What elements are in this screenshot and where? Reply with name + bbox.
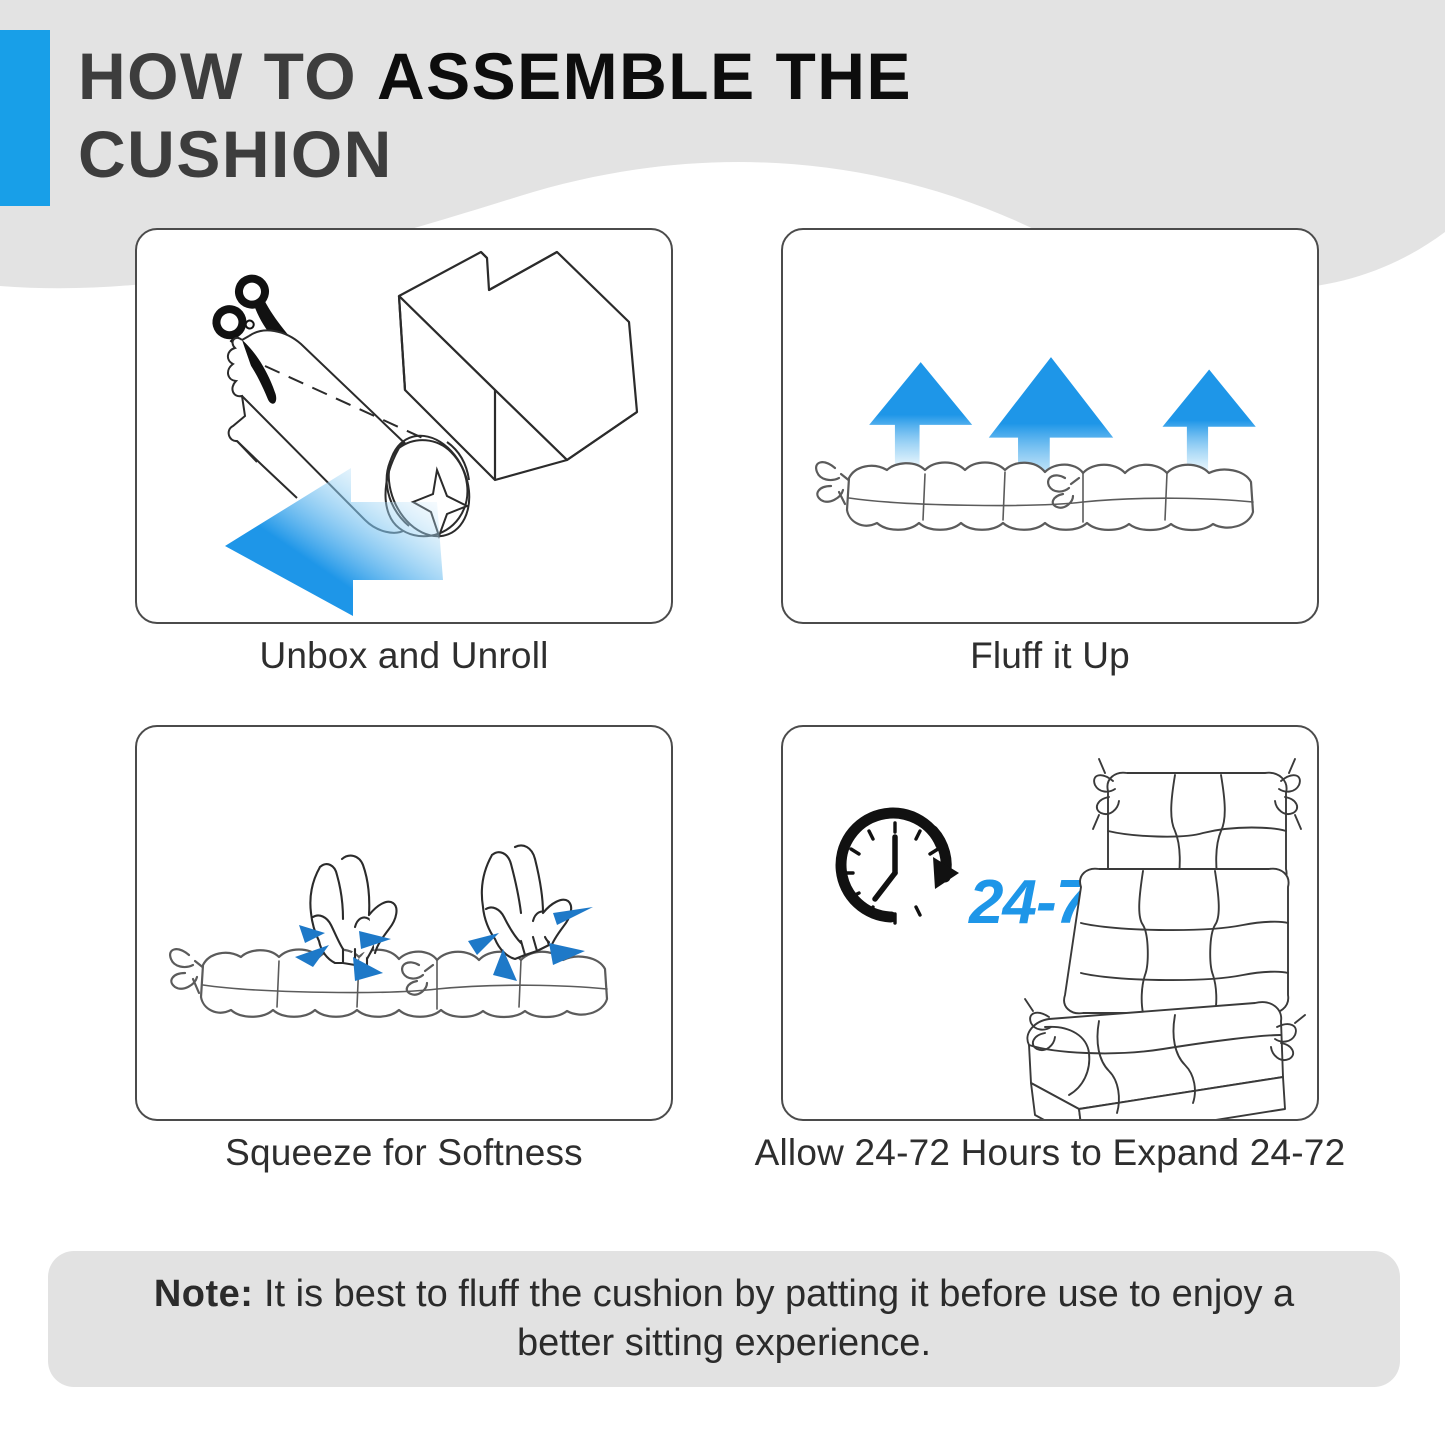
flat-rolled-cushion-icon	[816, 462, 1253, 530]
infographic-root: HOW TO ASSEMBLE THE CUSHION	[0, 0, 1445, 1445]
note-label: Note:	[154, 1273, 254, 1315]
page-title-light-2: CUSHION	[78, 117, 393, 191]
chair-cushion-icon	[1025, 759, 1305, 1121]
caption-unbox-and-unroll: Unbox and Unroll	[135, 635, 673, 677]
clock-icon	[841, 813, 959, 923]
panel-fluff-it-up	[781, 228, 1319, 624]
panel-unbox-and-unroll	[135, 228, 673, 624]
note-text: It is best to fluff the cushion by patti…	[264, 1273, 1294, 1364]
unbox-illustration	[137, 230, 673, 624]
panel-allow-to-expand: 24-72H	[781, 725, 1319, 1121]
flat-rolled-cushion-icon	[170, 949, 607, 1017]
fluff-illustration	[783, 230, 1319, 624]
note-box: Note: It is best to fluff the cushion by…	[48, 1251, 1400, 1387]
caption-allow-to-expand: Allow 24-72 Hours to Expand 24-72	[740, 1132, 1360, 1174]
page-title-strong: ASSEMBLE THE	[377, 39, 912, 113]
tie-knot-icon	[170, 949, 205, 993]
page-title: HOW TO ASSEMBLE THE CUSHION	[78, 38, 1178, 194]
tie-knot-icon	[816, 462, 851, 504]
squeeze-illustration	[137, 727, 673, 1121]
page-title-light-1: HOW TO	[78, 39, 377, 113]
panel-squeeze-for-softness	[135, 725, 673, 1121]
hand-patting-icon	[482, 846, 571, 960]
expand-illustration: 24-72H	[783, 727, 1319, 1121]
caption-squeeze-for-softness: Squeeze for Softness	[135, 1132, 673, 1174]
header-accent-bar	[0, 30, 50, 206]
caption-fluff-it-up: Fluff it Up	[781, 635, 1319, 677]
